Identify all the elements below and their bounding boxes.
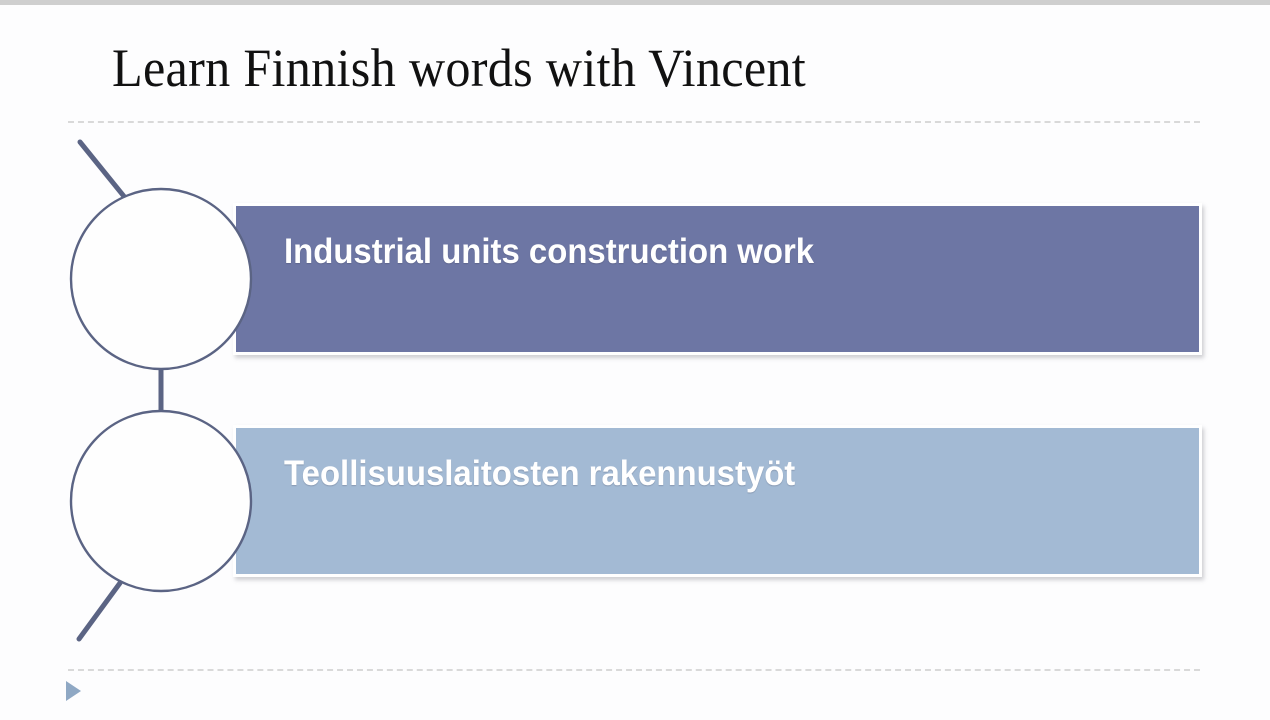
page-title: Learn Finnish words with Vincent	[112, 38, 1126, 98]
chain-graphic	[0, 0, 1270, 720]
list-item[interactable]: Industrial units construction work	[233, 203, 1202, 355]
slide-canvas: Learn Finnish words with Vincent Industr…	[0, 0, 1270, 720]
list-item-label: Teollisuuslaitosten rakennustyöt	[284, 455, 795, 493]
connector-line-top	[80, 142, 131, 205]
list-item[interactable]: Teollisuuslaitosten rakennustyöt	[233, 425, 1202, 577]
connector-line-bottom	[79, 583, 120, 639]
list-item-label: Industrial units construction work	[284, 233, 814, 271]
play-triangle-icon[interactable]	[66, 681, 81, 701]
divider-bottom	[68, 669, 1200, 671]
circle-bullet-icon	[71, 411, 251, 591]
circle-bullet-icon	[71, 189, 251, 369]
divider-top	[68, 121, 1200, 123]
window-top-edge	[0, 0, 1270, 5]
